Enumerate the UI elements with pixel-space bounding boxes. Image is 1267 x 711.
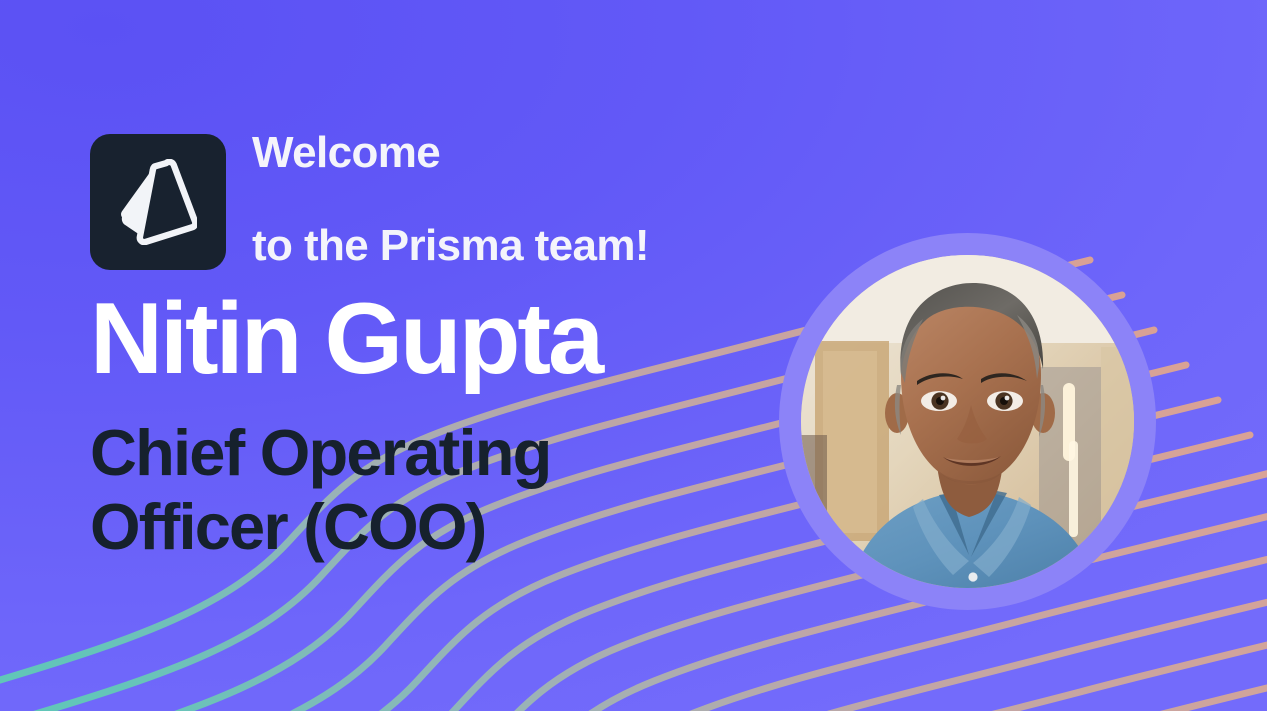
prisma-logo-tile [90, 134, 226, 270]
welcome-announcement-card: Welcome to the Prisma team! Nitin Gupta … [0, 0, 1267, 711]
person-title-line2: Officer (COO) [90, 490, 750, 564]
person-title-line1: Chief Operating [90, 416, 750, 490]
welcome-heading-line1: Welcome [252, 130, 649, 177]
person-name: Nitin Gupta [90, 289, 750, 390]
avatar [801, 255, 1134, 588]
prisma-triangle-logo-icon [119, 159, 197, 245]
welcome-heading-line2: to the Prisma team! [252, 223, 649, 270]
person-details: Nitin Gupta Chief Operating Officer (COO… [90, 289, 750, 564]
avatar-ring [779, 233, 1156, 610]
person-title: Chief Operating Officer (COO) [90, 416, 750, 564]
